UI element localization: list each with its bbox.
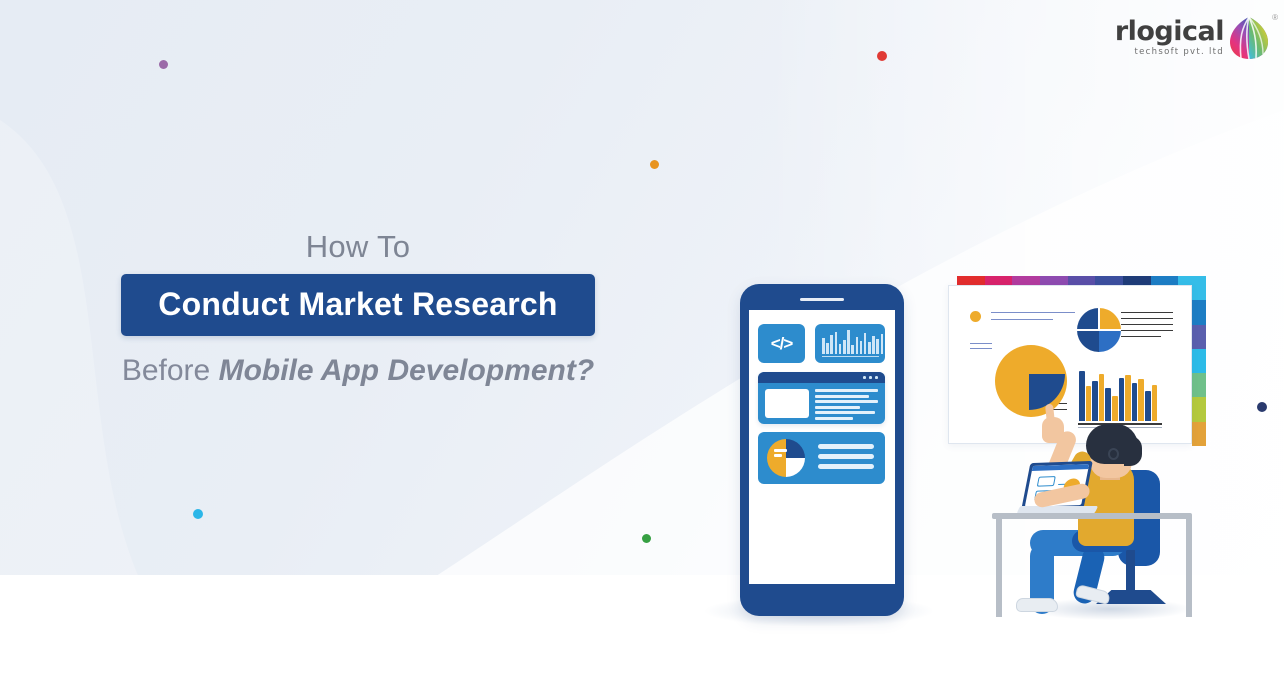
logo-wordmark: rlogical — [1115, 18, 1224, 45]
pie-label-2 — [774, 454, 782, 457]
headline-badge-text: Conduct Market Research — [131, 288, 585, 320]
phone-card-browser — [758, 372, 885, 424]
whiteboard-bar — [1112, 396, 1118, 421]
person-ear — [1108, 448, 1119, 460]
whiteboard-line-8 — [1121, 318, 1173, 319]
whiteboard-top-color-strip — [957, 276, 1206, 285]
browser-window-dots-icon — [863, 376, 878, 379]
side-strip-segment — [1192, 276, 1206, 300]
laptop-screen-titlebar — [1032, 464, 1089, 471]
whiteboard-bar — [1152, 385, 1158, 421]
whiteboard-line-3 — [970, 343, 992, 344]
browser-text-lines — [815, 389, 878, 423]
dot-green — [642, 534, 651, 543]
top-strip-segment — [957, 276, 985, 285]
desk-leg-left — [996, 517, 1002, 617]
dot-cyan — [193, 509, 203, 519]
whiteboard-bar — [1105, 388, 1111, 421]
headline-badge: Conduct Market Research — [121, 274, 595, 336]
phone-bar-chart-icon — [822, 330, 883, 354]
phone-bar — [881, 334, 884, 354]
phone-bar-chart-axis — [822, 356, 879, 357]
person-shoe-far — [1016, 598, 1058, 612]
pie-chart-icon — [767, 439, 805, 477]
small-pie-divider-h — [1077, 329, 1121, 331]
whiteboard-bar — [1138, 379, 1144, 421]
phone-bar — [830, 335, 833, 354]
phone-speaker-icon — [800, 298, 844, 301]
whiteboard-bar — [1145, 391, 1151, 421]
phone-mockup: </> — [740, 284, 904, 616]
small-pie-divider-v — [1098, 308, 1100, 330]
top-strip-segment — [1040, 276, 1068, 285]
logo-tagline: techsoft pvt. ltd — [1115, 48, 1224, 57]
whiteboard-bullet-dot-icon — [970, 311, 981, 322]
phone-bar — [860, 341, 863, 354]
whiteboard-line-7 — [1121, 312, 1173, 313]
headline-line-1: How To — [78, 228, 638, 265]
whiteboard-bar — [1079, 371, 1085, 421]
logo-leaf-icon: ® — [1228, 14, 1270, 60]
whiteboard-line-2 — [991, 319, 1053, 320]
registered-mark-icon: ® — [1272, 13, 1278, 22]
phone-bar — [864, 333, 867, 354]
dot-purple — [159, 60, 168, 69]
logo-leaf-svg — [1228, 14, 1270, 60]
workspace-scene — [960, 420, 1260, 635]
headline-line-3-prefix: Before — [122, 354, 219, 387]
top-strip-segment — [1068, 276, 1096, 285]
phone-bar — [822, 338, 825, 354]
side-strip-segment — [1192, 300, 1206, 324]
whiteboard-bar — [1125, 375, 1131, 421]
whiteboard-line-9 — [1121, 324, 1173, 325]
top-strip-segment — [1123, 276, 1151, 285]
phone-bar — [851, 345, 854, 354]
phone-bar — [843, 340, 846, 354]
laptop-diagram-box-1 — [1037, 476, 1056, 487]
pie-label-4 — [786, 469, 794, 472]
phone-card-pie — [758, 432, 885, 484]
pie-label-1 — [774, 449, 787, 452]
top-strip-segment — [1151, 276, 1179, 285]
phone-bar — [856, 337, 859, 354]
phone-bar — [835, 332, 838, 354]
whiteboard-small-pie-chart — [1077, 308, 1121, 352]
whiteboard-bar — [1119, 378, 1125, 421]
dot-navy — [1257, 402, 1267, 412]
top-strip-segment — [1095, 276, 1123, 285]
phone-card-bar-chart — [815, 324, 885, 363]
person-hair-tuft — [1124, 436, 1142, 466]
pie-card-text-lines — [818, 444, 874, 474]
phone-bar — [876, 339, 879, 354]
whiteboard-bar — [1092, 381, 1098, 421]
headline-line-3: Before Mobile App Development? — [78, 353, 638, 389]
person-hand-pointing — [1042, 417, 1064, 443]
whiteboard-line-11 — [1121, 336, 1161, 337]
whiteboard-bar — [1099, 374, 1105, 421]
side-strip-segment — [1192, 349, 1206, 373]
phone-bar — [826, 343, 829, 354]
whiteboard-line-1 — [991, 312, 1075, 313]
whiteboard-bar — [1132, 383, 1138, 421]
side-strip-segment — [1192, 325, 1206, 349]
brand-logo[interactable]: rlogical techsoft pvt. ltd — [1115, 14, 1270, 60]
code-icon: </> — [771, 334, 793, 354]
pie-label-3 — [786, 464, 799, 467]
phone-screen: </> — [749, 310, 895, 584]
desk-leg-right — [1186, 517, 1192, 617]
whiteboard-bar — [1086, 386, 1092, 421]
banner-canvas: rlogical techsoft pvt. ltd — [0, 0, 1284, 675]
headline-block: How To Conduct Market Research Before Mo… — [78, 228, 638, 389]
browser-titlebar — [758, 372, 885, 383]
top-strip-segment — [1012, 276, 1040, 285]
phone-bar — [847, 330, 850, 354]
whiteboard-bar-chart — [1079, 370, 1159, 424]
phone-card-code: </> — [758, 324, 805, 363]
logo-text-block: rlogical techsoft pvt. ltd — [1115, 18, 1228, 61]
side-strip-segment — [1192, 373, 1206, 397]
phone-bar — [872, 336, 875, 354]
headline-line-3-emphasis: Mobile App Development? — [219, 354, 595, 387]
desk-top — [992, 513, 1192, 519]
dot-orange — [650, 160, 659, 169]
browser-image-placeholder — [765, 389, 809, 418]
side-strip-segment — [1192, 397, 1206, 421]
phone-bar — [868, 342, 871, 354]
whiteboard-line-4 — [970, 348, 992, 349]
top-strip-segment — [985, 276, 1013, 285]
whiteboard-line-10 — [1121, 330, 1173, 331]
phone-bar — [839, 344, 842, 354]
dot-red — [877, 51, 887, 61]
